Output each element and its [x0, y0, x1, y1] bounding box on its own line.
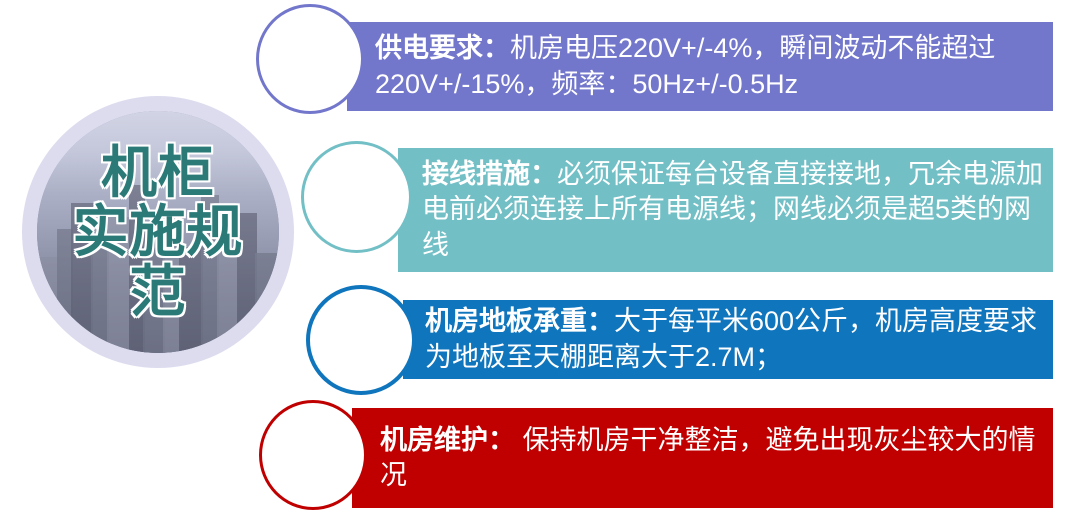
- badge-title-line-3: 范: [130, 263, 187, 320]
- band-heading: 机房地板承重：: [425, 306, 614, 336]
- bullet-circle-4[interactable]: [259, 400, 367, 510]
- band-text: 机房维护： 保持机房干净整洁，避免出现灰尘较大的情况: [352, 423, 1053, 493]
- band-power-supply-requirement[interactable]: 供电要求：机房电压220V+/-4%，瞬间波动不能超过220V+/-15%，频率…: [347, 22, 1053, 111]
- bullet-circle-2[interactable]: [301, 141, 412, 253]
- band-heading: 机房维护：: [380, 425, 515, 455]
- band-wiring-measures[interactable]: 接线措施：必须保证每台设备直接接地，冗余电源加电前必须连接上所有电源线；网线必须…: [398, 148, 1053, 272]
- bullet-circle-3[interactable]: [306, 285, 416, 395]
- band-room-maintenance[interactable]: 机房维护： 保持机房干净整洁，避免出现灰尘较大的情况: [352, 408, 1053, 508]
- band-text: 机房地板承重：大于每平米600公斤，机房高度要求为地板至天棚距离大于2.7M；: [403, 304, 1053, 374]
- band-text: 接线措施：必须保证每台设备直接接地，冗余电源加电前必须连接上所有电源线；网线必须…: [398, 157, 1053, 262]
- band-heading: 接线措施：: [422, 159, 557, 189]
- band-floor-load-bearing[interactable]: 机房地板承重：大于每平米600公斤，机房高度要求为地板至天棚距离大于2.7M；: [403, 300, 1053, 379]
- bullet-circle-1[interactable]: [256, 4, 364, 114]
- infographic-canvas: 机柜 实施规 范 供电要求：机房电压220V+/-4%，瞬间波动不能超过220V…: [0, 0, 1080, 521]
- badge-circle: 机柜 实施规 范: [22, 96, 294, 368]
- badge-title: 机柜 实施规 范: [22, 96, 294, 368]
- badge-title-line-1: 机柜: [101, 144, 215, 201]
- badge-title-line-2: 实施规: [73, 203, 244, 260]
- band-heading: 供电要求：: [375, 33, 510, 63]
- band-text: 供电要求：机房电压220V+/-4%，瞬间波动不能超过220V+/-15%，频率…: [347, 31, 1053, 101]
